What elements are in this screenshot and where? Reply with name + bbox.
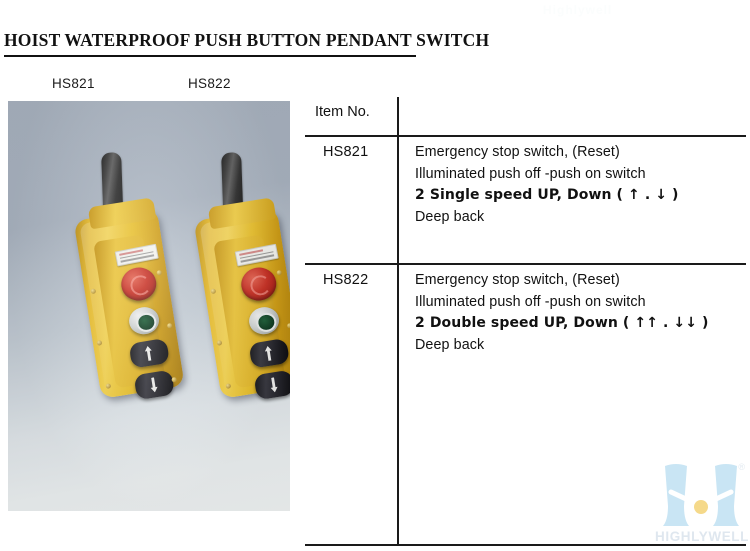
- up-button-icon: [129, 338, 170, 369]
- screw-icon: [167, 323, 173, 329]
- desc-line: Emergency stop switch, (Reset): [415, 142, 679, 164]
- switch-body: [74, 208, 185, 399]
- switch-body: [194, 208, 290, 399]
- registered-mark-icon: ®: [738, 462, 745, 472]
- desc-line: Deep back: [415, 207, 679, 229]
- illuminated-button-icon: [247, 305, 281, 336]
- down-button-icon: [134, 370, 175, 401]
- top-watermark: Highlywell: [543, 3, 612, 17]
- illuminated-button-icon: [127, 305, 161, 336]
- screw-icon: [171, 377, 177, 383]
- table-row-desc-hs821: Emergency stop switch, (Reset) Illuminat…: [415, 142, 679, 228]
- screw-icon: [217, 340, 223, 346]
- table-row-item-hs822: HS822: [323, 272, 368, 288]
- product-photo: [8, 101, 290, 511]
- photo-caption-right: HS822: [188, 76, 231, 91]
- table-row-desc-hs822: Emergency stop switch, (Reset) Illuminat…: [415, 270, 709, 356]
- switch-collar: [88, 197, 157, 229]
- desc-line: Deep back: [415, 335, 709, 357]
- screw-icon: [156, 270, 162, 276]
- page-root: Highlywell HOIST WATERPROOF PUSH BUTTON …: [0, 0, 750, 551]
- page-title-block: HOIST WATERPROOF PUSH BUTTON PENDANT SWI…: [4, 30, 424, 57]
- screw-icon: [105, 383, 111, 389]
- screw-icon: [287, 323, 290, 329]
- screw-icon: [210, 288, 216, 294]
- photo-caption-left: HS821: [52, 76, 95, 91]
- screw-icon: [225, 383, 231, 389]
- highlywell-mark-icon: [655, 462, 747, 532]
- table-header-rule: [305, 135, 746, 137]
- down-button-icon: [254, 370, 290, 401]
- emergency-stop-icon: [239, 265, 279, 303]
- rating-label: [235, 244, 279, 267]
- logo-center-dot-icon: [694, 500, 708, 514]
- desc-line-speed: 2 Single speed UP, Down ( ↑ . ↓ ): [415, 185, 679, 207]
- title-underline: [4, 55, 416, 57]
- desc-line: Emergency stop switch, (Reset): [415, 270, 709, 292]
- brand-name: HIGHLYWELL: [655, 529, 747, 544]
- desc-line: Illuminated push off -push on switch: [415, 292, 709, 314]
- desc-line-speed: 2 Double speed UP, Down ( ↑↑ . ↓↓ ): [415, 313, 709, 335]
- screw-icon: [97, 340, 103, 346]
- switch-faceplate: [93, 234, 166, 388]
- switch-collar: [208, 197, 277, 229]
- screw-icon: [90, 288, 96, 294]
- screw-icon: [276, 270, 282, 276]
- page-title: HOIST WATERPROOF PUSH BUTTON PENDANT SWI…: [4, 30, 424, 54]
- table-column-divider: [397, 97, 399, 545]
- desc-line: Illuminated push off -push on switch: [415, 164, 679, 186]
- up-button-icon: [249, 338, 290, 369]
- rating-label: [115, 244, 159, 267]
- table-header-item-no: Item No.: [315, 104, 370, 120]
- emergency-stop-icon: [119, 265, 159, 303]
- brand-logo: ® HIGHLYWELL: [655, 462, 747, 551]
- table-row-item-hs821: HS821: [323, 144, 368, 160]
- switch-faceplate: [213, 234, 286, 388]
- table-row-rule: [305, 263, 746, 265]
